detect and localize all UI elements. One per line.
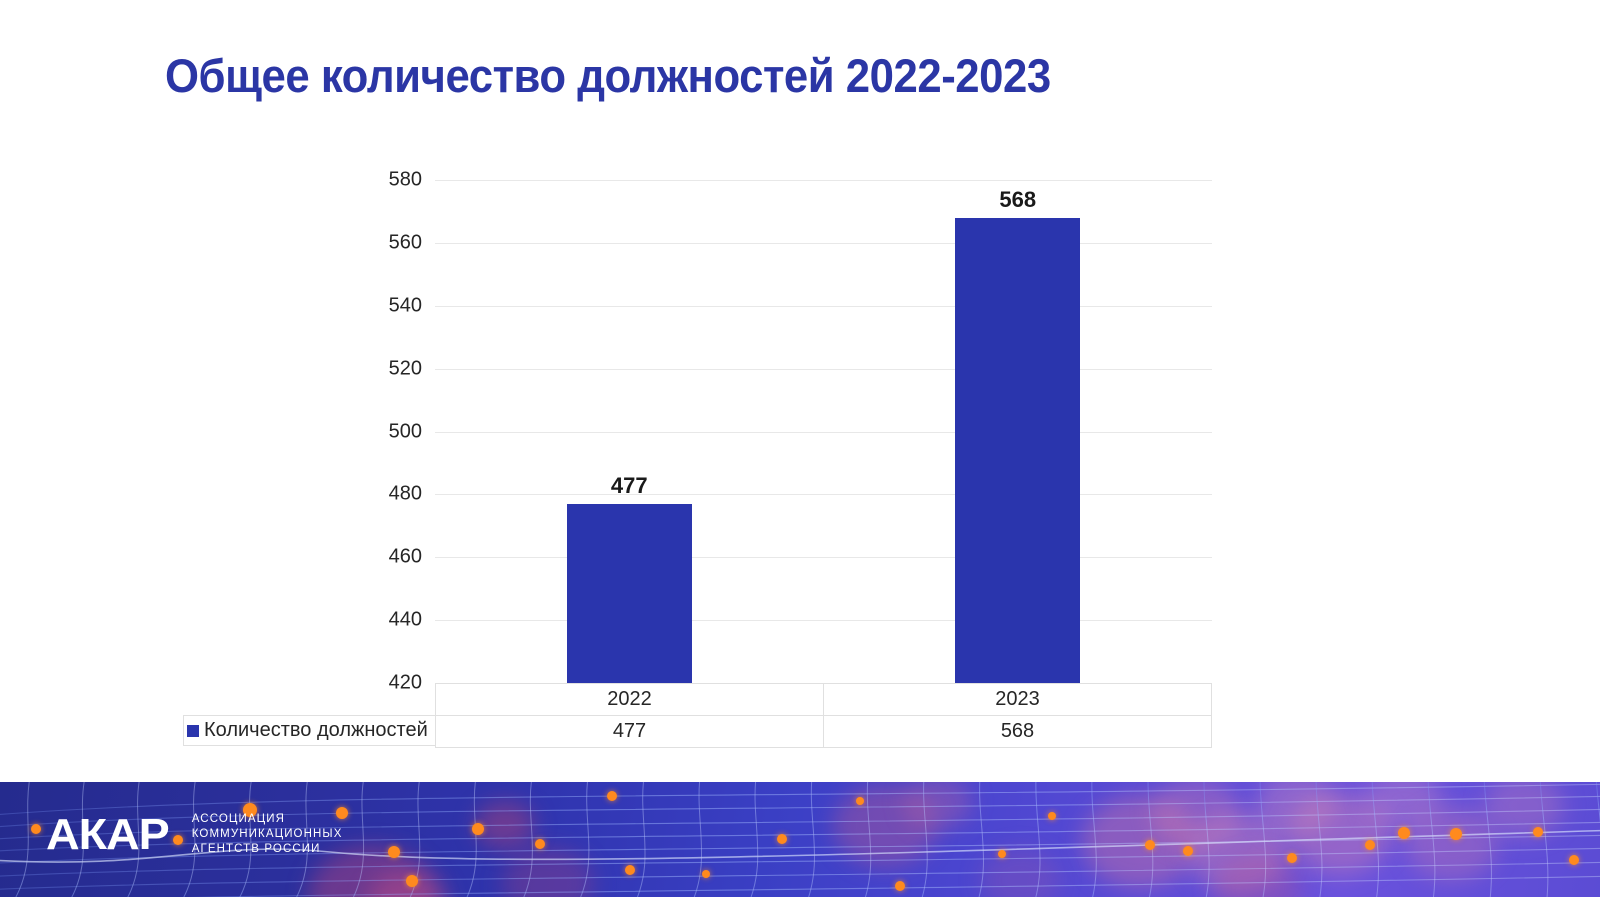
- accent-dot-decoration: [388, 846, 400, 858]
- accent-dot-decoration: [31, 824, 41, 834]
- legend-label: Количество должностей: [204, 719, 428, 742]
- accent-dot-decoration: [1450, 828, 1462, 840]
- gridline: [435, 494, 1212, 495]
- accent-dot-decoration: [406, 875, 418, 887]
- gridline: [435, 306, 1212, 307]
- gridline: [435, 369, 1212, 370]
- akar-logo-subtitle-line1: АССОЦИАЦИЯ: [192, 812, 343, 827]
- gridline: [435, 432, 1212, 433]
- table-cell-value: 568: [824, 716, 1212, 748]
- plot-area: 477568: [435, 180, 1212, 683]
- y-axis-tick-label: 540: [389, 294, 422, 317]
- y-axis-tick-label: 480: [389, 483, 422, 506]
- accent-dot-decoration: [1533, 827, 1543, 837]
- akar-logo-subtitle-line3: АГЕНТСТВ РОССИИ: [192, 842, 343, 857]
- table-cell-category: 2023: [824, 684, 1212, 716]
- y-axis-tick-label: 500: [389, 420, 422, 443]
- gridline: [435, 180, 1212, 181]
- accent-dot-decoration: [777, 834, 787, 844]
- accent-dot-decoration: [1569, 855, 1579, 865]
- chart-data-table: 2022 2023 477 568: [435, 683, 1212, 748]
- accent-dot-decoration: [1145, 840, 1155, 850]
- y-axis-tick-label: 580: [389, 169, 422, 192]
- accent-dot-decoration: [625, 865, 635, 875]
- akar-logo-subtitle: АССОЦИАЦИЯ КОММУНИКАЦИОННЫХ АГЕНТСТВ РОС…: [192, 812, 343, 857]
- accent-dot-decoration: [607, 791, 617, 801]
- accent-dot-decoration: [1287, 853, 1297, 863]
- accent-dot-decoration: [1365, 840, 1375, 850]
- gridline: [435, 557, 1212, 558]
- accent-dot-decoration: [1183, 846, 1193, 856]
- accent-dot-decoration: [472, 823, 484, 835]
- legend-swatch-icon: [187, 725, 199, 737]
- y-axis: 580560540520500480460440420: [330, 180, 422, 683]
- y-axis-tick-label: 440: [389, 609, 422, 632]
- table-row-values: 477 568: [436, 716, 1212, 748]
- accent-dot-decoration: [998, 850, 1006, 858]
- y-axis-tick-label: 560: [389, 231, 422, 254]
- accent-dot-decoration: [1048, 812, 1056, 820]
- bar-value-label: 477: [567, 473, 692, 499]
- accent-dot-decoration: [702, 870, 710, 878]
- bar: [955, 218, 1080, 683]
- accent-dot-decoration: [895, 881, 905, 891]
- gridline: [435, 620, 1212, 621]
- y-axis-tick-label: 420: [389, 672, 422, 695]
- akar-logo-mark: АКАР: [46, 813, 169, 857]
- accent-dot-decoration: [1398, 827, 1410, 839]
- y-axis-tick-label: 520: [389, 357, 422, 380]
- accent-dot-decoration: [535, 839, 545, 849]
- bar: [567, 504, 692, 683]
- bar-value-label: 568: [955, 187, 1080, 213]
- table-cell-value: 477: [436, 716, 824, 748]
- gridline: [435, 243, 1212, 244]
- bar-chart: 580560540520500480460440420 477568 2022 …: [0, 0, 1600, 780]
- chart-legend: Количество должностей: [183, 715, 435, 746]
- table-cell-category: 2022: [436, 684, 824, 716]
- y-axis-tick-label: 460: [389, 546, 422, 569]
- akar-logo: АКАР АССОЦИАЦИЯ КОММУНИКАЦИОННЫХ АГЕНТСТ…: [46, 812, 342, 857]
- table-row-categories: 2022 2023: [436, 684, 1212, 716]
- akar-logo-subtitle-line2: КОММУНИКАЦИОННЫХ: [192, 827, 343, 842]
- accent-dot-decoration: [856, 797, 864, 805]
